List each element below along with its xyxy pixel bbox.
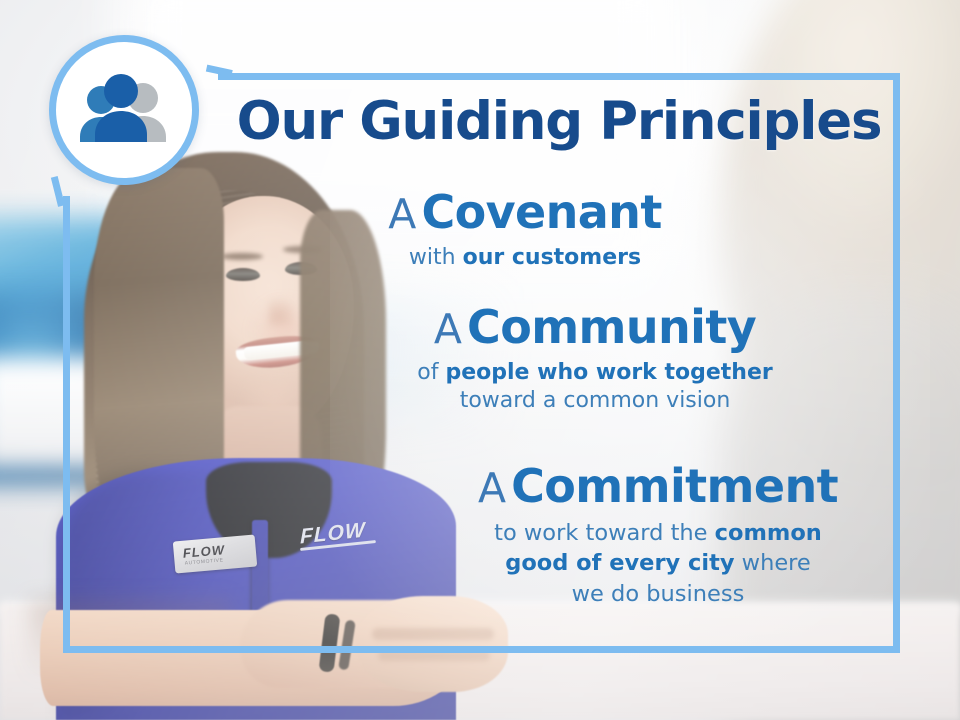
principle-article-commitment: A: [478, 464, 506, 512]
principle-heading-community: A Community: [395, 303, 795, 352]
principle-subtext-commitment: to work toward the commongood of every c…: [448, 518, 868, 610]
principle-subtext-community: of people who work togethertoward a comm…: [395, 359, 795, 416]
principle-subtext-segment: where: [735, 550, 811, 576]
principle-subtext-segment: good of every city: [505, 550, 734, 576]
principle-subtext-segment: people who work together: [445, 360, 772, 385]
principle-keyword-community: Community: [467, 300, 756, 354]
guiding-principles-graphic: FLOW AUTOMOTIVE FLOW: [0, 0, 960, 720]
principle-keyword-covenant: Covenant: [421, 185, 661, 239]
principle-article-community: A: [434, 305, 462, 353]
principle-subtext-segment: with: [409, 245, 463, 270]
principle-block-community: A Community of people who work togethert…: [395, 303, 795, 416]
text-content: Our Guiding Principles A Covenant with o…: [0, 0, 960, 720]
principle-heading-commitment: A Commitment: [448, 462, 868, 511]
principle-block-covenant: A Covenant with our customers: [330, 188, 720, 272]
principle-subtext-segment: common: [715, 520, 822, 546]
principle-subtext-segment: to work toward the: [494, 520, 715, 546]
principle-subtext-segment: toward a common vision: [460, 388, 731, 413]
principle-heading-covenant: A Covenant: [330, 188, 720, 237]
principle-keyword-commitment: Commitment: [511, 459, 838, 513]
principle-subtext-segment: of: [417, 360, 445, 385]
principle-subtext-covenant: with our customers: [330, 244, 720, 273]
page-title: Our Guiding Principles: [218, 94, 900, 149]
principle-subtext-segment: we do business: [572, 581, 745, 607]
principle-subtext-segment: our customers: [463, 245, 642, 270]
principle-block-commitment: A Commitment to work toward the commongo…: [448, 462, 868, 610]
principle-article-covenant: A: [388, 190, 416, 238]
